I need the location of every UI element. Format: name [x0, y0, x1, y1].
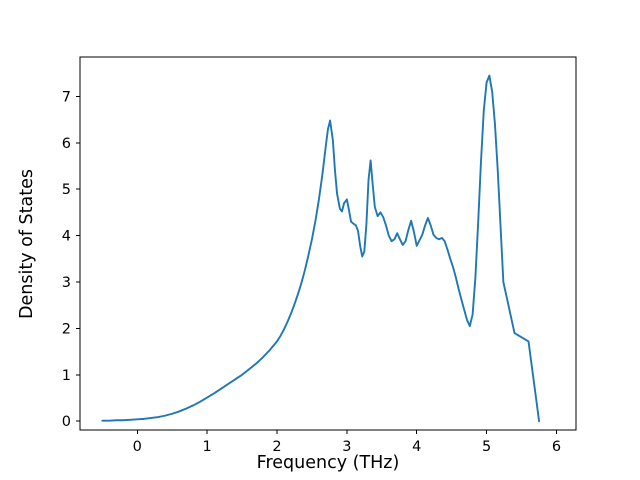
- x-tick-label: 1: [203, 439, 212, 455]
- x-axis-label: Frequency (THz): [257, 453, 400, 473]
- y-tick-label: 1: [62, 368, 71, 384]
- x-tick-label: 5: [482, 439, 491, 455]
- x-tick-label: 0: [133, 439, 142, 455]
- dos-line-series: [102, 76, 539, 422]
- y-axis-label: Density of States: [17, 169, 37, 319]
- y-axis-ticks: 01234567: [62, 89, 80, 430]
- y-tick-label: 0: [62, 414, 71, 430]
- y-tick-label: 7: [62, 89, 71, 105]
- y-tick-label: 6: [62, 136, 71, 152]
- y-tick-label: 2: [62, 321, 71, 337]
- figure-canvas: 0123456 01234567 Frequency (THz) Density…: [0, 0, 640, 480]
- x-tick-label: 6: [552, 439, 561, 455]
- y-tick-label: 4: [62, 229, 71, 245]
- y-tick-label: 5: [62, 182, 71, 198]
- x-tick-label: 4: [412, 439, 421, 455]
- y-tick-label: 3: [62, 275, 71, 291]
- dos-plot: 0123456 01234567 Frequency (THz) Density…: [0, 0, 640, 480]
- x-axis-ticks: 0123456: [133, 430, 561, 455]
